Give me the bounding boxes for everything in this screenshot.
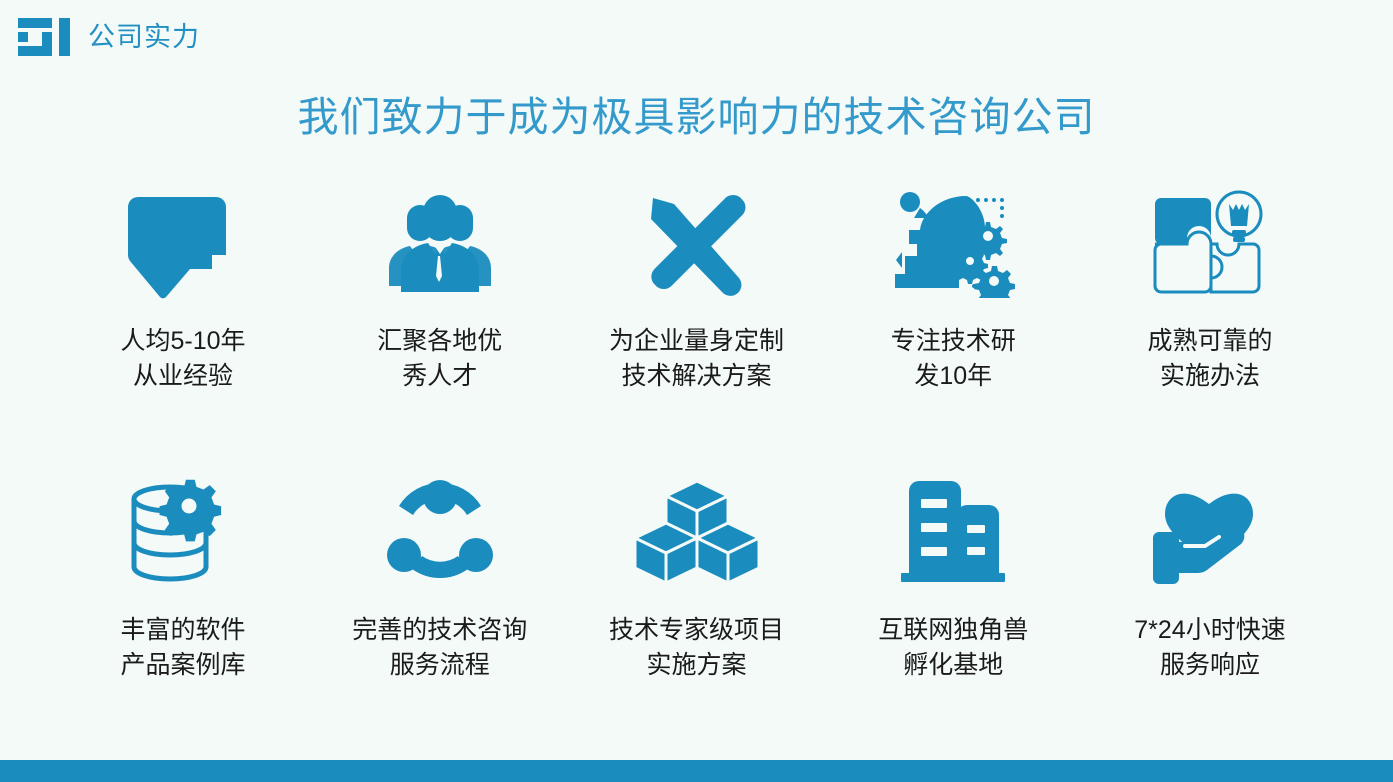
hand-heart-icon	[1145, 471, 1275, 591]
cubes-stack-icon	[632, 471, 762, 591]
buildings-icon	[888, 471, 1018, 591]
feature-cell-cases[interactable]: 丰富的软件 产品案例库	[60, 471, 306, 682]
feature-label: 为企业量身定制 技术解决方案	[609, 324, 784, 393]
feature-label: 人均5-10年 从业经验	[120, 324, 245, 393]
badge-shield-icon	[118, 182, 248, 302]
feature-label: 完善的技术咨询 服务流程	[352, 613, 527, 682]
feature-cell-rd[interactable]: 专注技术研 发10年	[830, 182, 1076, 393]
feature-row: 人均5-10年 从业经验	[60, 182, 1333, 393]
feature-label: 7*24小时快速 服务响应	[1134, 613, 1285, 682]
feature-label: 成熟可靠的 实施办法	[1147, 324, 1272, 393]
feature-cell-incubator[interactable]: 互联网独角兽 孵化基地	[830, 471, 1076, 682]
page-title: 我们致力于成为极具影响力的技术咨询公司	[0, 92, 1393, 143]
brand-label: 公司实力	[88, 24, 200, 51]
feature-label: 专注技术研 发10年	[891, 324, 1016, 393]
feature-label: 互联网独角兽 孵化基地	[878, 613, 1028, 682]
feature-cell-support[interactable]: 7*24小时快速 服务响应	[1087, 471, 1333, 682]
puzzle-bulb-icon	[1145, 182, 1275, 302]
feature-cell-expert[interactable]: 技术专家级项目 实施方案	[574, 471, 820, 682]
feature-cell-process[interactable]: 完善的技术咨询 服务流程	[317, 471, 563, 682]
team-people-icon	[375, 182, 505, 302]
feature-row: 丰富的软件 产品案例库 完善的技术咨询 服	[60, 471, 1333, 682]
footer-accent-bar	[0, 760, 1393, 782]
feature-label: 技术专家级项目 实施方案	[609, 613, 784, 682]
cross-tailor-icon	[632, 182, 762, 302]
database-gear-icon	[118, 471, 248, 591]
51-logo-icon	[18, 16, 70, 58]
feature-cell-talent[interactable]: 汇聚各地优 秀人才	[317, 182, 563, 393]
feature-grid: 人均5-10年 从业经验	[60, 182, 1333, 682]
feature-label: 汇聚各地优 秀人才	[377, 324, 502, 393]
feature-label: 丰富的软件 产品案例库	[120, 613, 245, 682]
head-gears-icon	[888, 182, 1018, 302]
feature-cell-experience[interactable]: 人均5-10年 从业经验	[60, 182, 306, 393]
feature-cell-solution[interactable]: 成熟可靠的 实施办法	[1087, 182, 1333, 393]
slide-canvas: 公司实力 我们致力于成为极具影响力的技术咨询公司 人均5-10年 从业经验	[0, 0, 1393, 782]
slide-header: 公司实力	[18, 14, 200, 60]
feature-cell-custom[interactable]: 为企业量身定制 技术解决方案	[574, 182, 820, 393]
process-cycle-icon	[375, 471, 505, 591]
